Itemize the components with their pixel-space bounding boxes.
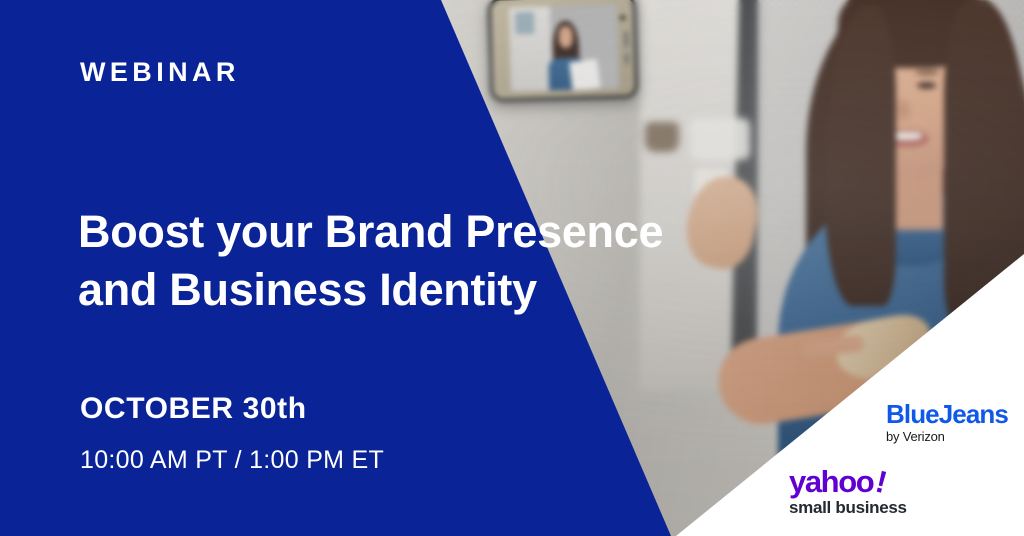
headline-line-1: Boost your Brand Presence	[78, 203, 718, 261]
yahoo-wordmark-row: yahoo!	[789, 466, 907, 497]
headline-line-2: and Business Identity	[78, 261, 718, 319]
event-date: OCTOBER 30th	[80, 392, 307, 426]
yahoo-tagline: small business	[789, 499, 907, 516]
eyebrow-label: WEBINAR	[80, 57, 240, 88]
yahoo-wordmark: yahoo	[789, 466, 873, 497]
yahoo-small-business-logo: yahoo! small business	[789, 466, 907, 516]
webinar-promo-banner: WEBINAR Boost your Brand Presence and Bu…	[0, 0, 1024, 536]
event-time: 10:00 AM PT / 1:00 PM ET	[80, 446, 384, 475]
bluejeans-tagline: by Verizon	[886, 430, 1008, 443]
page-title: Boost your Brand Presence and Business I…	[78, 203, 718, 318]
bluejeans-wordmark: BlueJeans	[886, 401, 1008, 427]
yahoo-exclamation-icon: !	[873, 466, 889, 498]
bluejeans-logo: BlueJeans by Verizon	[886, 401, 1008, 443]
